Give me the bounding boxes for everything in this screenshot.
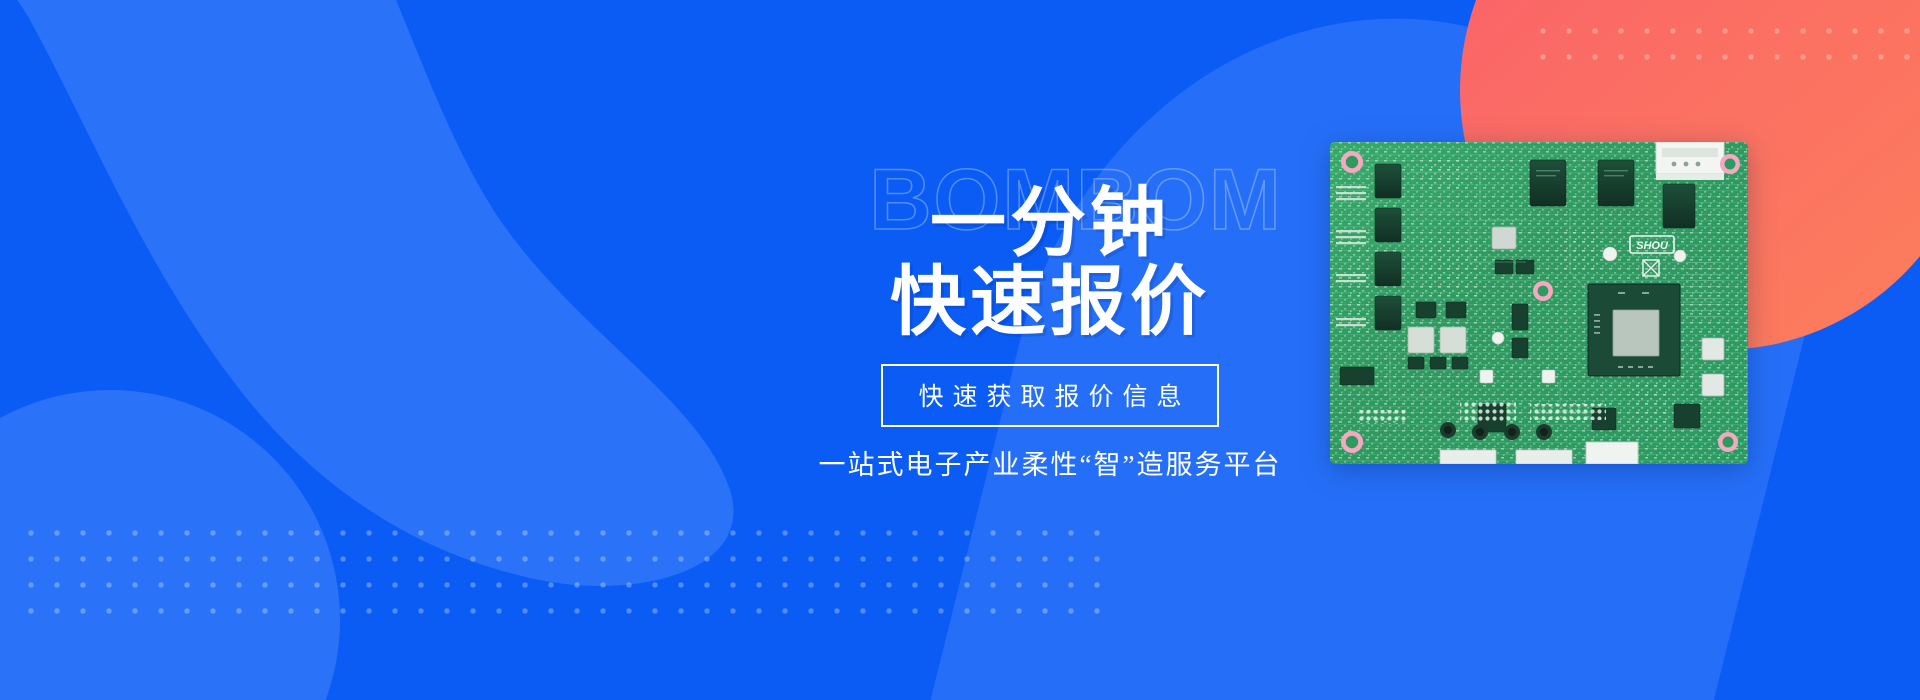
dot-pattern-top-right bbox=[1530, 18, 1910, 78]
boxed-label-wrap: 快速获取报价信息 bbox=[740, 342, 1360, 427]
cta-boxed-label[interactable]: 快速获取报价信息 bbox=[881, 364, 1218, 427]
svg-text:SHOU: SHOU bbox=[1636, 240, 1669, 252]
dot-pattern-bottom-left bbox=[18, 520, 1118, 630]
pcb-board-image: SHOU bbox=[1330, 142, 1748, 464]
headline-line-1: 一分钟 bbox=[740, 184, 1360, 263]
banner-copy: BOMBOM 一分钟 快速报价 快速获取报价信息 一站式电子产业柔性“智”造服务… bbox=[740, 160, 1360, 482]
pcb-circuit-board-icon: SHOU bbox=[1330, 142, 1748, 464]
promo-banner: BOMBOM 一分钟 快速报价 快速获取报价信息 一站式电子产业柔性“智”造服务… bbox=[0, 0, 1920, 700]
banner-tagline: 一站式电子产业柔性“智”造服务平台 bbox=[740, 443, 1360, 482]
bottom-left-circle-blob bbox=[0, 390, 340, 700]
headline-line-2: 快速报价 bbox=[740, 263, 1360, 342]
page-title: 一分钟 快速报价 bbox=[740, 184, 1360, 342]
